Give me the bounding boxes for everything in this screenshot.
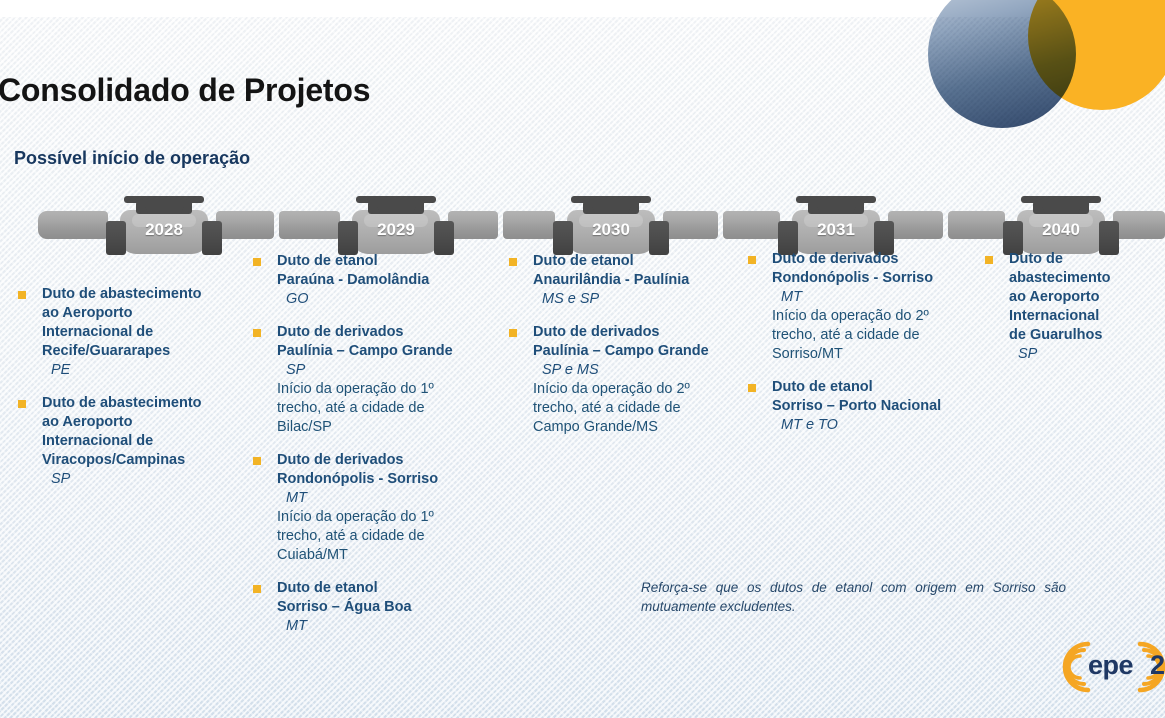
timeline-year-label: 2028 (120, 220, 208, 240)
project-title-line: Duto de abastecimento (42, 285, 250, 304)
project-item[interactable]: Duto de derivadosRondonópolis - SorrisoM… (253, 451, 501, 565)
project-item[interactable]: Duto de etanolSorriso – Água BoaMT (253, 579, 501, 636)
project-title-line: Internacional de (42, 432, 250, 451)
project-note-line: trecho, até a cidade de (277, 527, 501, 546)
project-note-line: Início da operação do 2º (772, 307, 991, 326)
pipeline-timeline: 20282029203020312040 (0, 180, 1165, 252)
project-state: PE (42, 361, 250, 380)
project-state: SP e MS (533, 361, 749, 380)
project-note-line: Sorriso/MT (772, 345, 991, 364)
project-title-line: Duto de derivados (772, 250, 991, 269)
project-title-line: Duto de etanol (533, 252, 749, 271)
project-title-line: Paulínia – Campo Grande (277, 342, 501, 361)
project-item[interactable]: Duto de derivadosPaulínia – Campo Grande… (253, 323, 501, 437)
logo-wordmark: epe (1088, 650, 1133, 681)
project-note-line: Início da operação do 1º (277, 508, 501, 527)
project-title-line: Recife/Guararapes (42, 342, 250, 361)
project-column-2031: Duto de derivadosRondonópolis - SorrisoM… (748, 250, 991, 449)
project-title-line: Sorriso – Água Boa (277, 598, 501, 617)
project-column-2029: Duto de etanolParaúna - DamolândiaGODuto… (253, 252, 501, 650)
project-title-line: Duto de abastecimento (42, 394, 250, 413)
project-title-line: Anaurilândia - Paulínia (533, 271, 749, 290)
bullet-square-icon (253, 585, 261, 593)
project-title-line: ao Aeroporto (42, 304, 250, 323)
project-title-line: de Guarulhos (1009, 326, 1165, 345)
valve-handle-spoke (393, 199, 399, 214)
bullet-square-icon (748, 384, 756, 392)
project-note-line: Cuiabá/MT (277, 546, 501, 565)
project-item[interactable]: Duto de etanolSorriso – Porto NacionalMT… (748, 378, 991, 435)
project-title-line: Viracopos/Campinas (42, 451, 250, 470)
project-title-line: ao Aeroporto (42, 413, 250, 432)
project-state: MT e TO (772, 416, 991, 435)
bullet-square-icon (748, 256, 756, 264)
project-state: GO (277, 290, 501, 309)
slide-canvas: Consolidado de Projetos Possível início … (0, 0, 1165, 718)
project-note-line: trecho, até a cidade de (533, 399, 749, 418)
project-title-line: Duto de derivados (277, 323, 501, 342)
project-note-line: Bilac/SP (277, 418, 501, 437)
project-note-line: Campo Grande/MS (533, 418, 749, 437)
project-state: SP (42, 470, 250, 489)
project-item[interactable]: Duto de abastecimentoao AeroportoInterna… (18, 394, 250, 489)
bullet-square-icon (253, 457, 261, 465)
timeline-year-label: 2030 (567, 220, 655, 240)
project-title-line: Duto de etanol (772, 378, 991, 397)
project-item[interactable]: Duto de abastecimentoao AeroportoInterna… (18, 285, 250, 380)
project-state: SP (277, 361, 501, 380)
timeline-valve-2029[interactable]: 2029 (330, 198, 462, 258)
project-note-line: Início da operação do 1º (277, 380, 501, 399)
project-title-line: ao Aeroporto (1009, 288, 1165, 307)
timeline-valve-2040[interactable]: 2040 (995, 198, 1127, 258)
bullet-square-icon (253, 329, 261, 337)
footnote-text: Reforça-se que os dutos de etanol com or… (641, 578, 1066, 616)
project-title-line: Paulínia – Campo Grande (533, 342, 749, 361)
project-title-line: Duto de (1009, 250, 1165, 269)
bullet-square-icon (509, 329, 517, 337)
timeline-valve-2028[interactable]: 2028 (98, 198, 230, 258)
project-note-line: trecho, até a cidade de (772, 326, 991, 345)
project-title-line: Paraúna - Damolândia (277, 271, 501, 290)
project-title-line: Duto de derivados (277, 451, 501, 470)
project-state: SP (1009, 345, 1165, 364)
page-subtitle: Possível início de operação (14, 148, 614, 169)
timeline-year-label: 2040 (1017, 220, 1105, 240)
project-item[interactable]: Duto de etanolParaúna - DamolândiaGO (253, 252, 501, 309)
bullet-square-icon (253, 258, 261, 266)
project-item[interactable]: Duto de derivadosPaulínia – Campo Grande… (509, 323, 749, 437)
project-note-line: Início da operação do 2º (533, 380, 749, 399)
project-state: MT (277, 617, 501, 636)
valve-handle-spoke (608, 199, 614, 214)
project-title-line: Internacional (1009, 307, 1165, 326)
valve-handle-spoke (833, 199, 839, 214)
valve-handle-spoke (1058, 199, 1064, 214)
timeline-year-label: 2029 (352, 220, 440, 240)
project-state: MS e SP (533, 290, 749, 309)
project-title-line: Rondonópolis - Sorriso (277, 470, 501, 489)
project-title-line: Internacional de (42, 323, 250, 342)
project-title-line: Duto de derivados (533, 323, 749, 342)
project-title-line: Sorriso – Porto Nacional (772, 397, 991, 416)
bullet-square-icon (985, 256, 993, 264)
timeline-valve-2031[interactable]: 2031 (770, 198, 902, 258)
decorative-circle-blue (928, 0, 1076, 128)
timeline-valve-2030[interactable]: 2030 (545, 198, 677, 258)
bullet-square-icon (18, 291, 26, 299)
timeline-year-label: 2031 (792, 220, 880, 240)
project-title-line: Rondonópolis - Sorriso (772, 269, 991, 288)
project-item[interactable]: Duto deabastecimentoao AeroportoInternac… (985, 250, 1165, 364)
project-state: MT (277, 489, 501, 508)
epe-logo: epe 20 (1062, 636, 1165, 698)
project-title-line: Duto de etanol (277, 579, 501, 598)
logo-year: 20 (1150, 650, 1165, 681)
project-title-line: Duto de etanol (277, 252, 501, 271)
project-item[interactable]: Duto de etanolAnaurilândia - PaulíniaMS … (509, 252, 749, 309)
project-item[interactable]: Duto de derivadosRondonópolis - SorrisoM… (748, 250, 991, 364)
project-column-2028: Duto de abastecimentoao AeroportoInterna… (18, 285, 250, 503)
bullet-square-icon (509, 258, 517, 266)
bullet-square-icon (18, 400, 26, 408)
project-state: MT (772, 288, 991, 307)
project-column-2030: Duto de etanolAnaurilândia - PaulíniaMS … (509, 252, 749, 451)
project-note-line: trecho, até a cidade de (277, 399, 501, 418)
project-title-line: abastecimento (1009, 269, 1165, 288)
valve-handle-spoke (161, 199, 167, 214)
project-column-2040: Duto deabastecimentoao AeroportoInternac… (985, 250, 1165, 378)
page-title: Consolidado de Projetos (0, 72, 638, 109)
